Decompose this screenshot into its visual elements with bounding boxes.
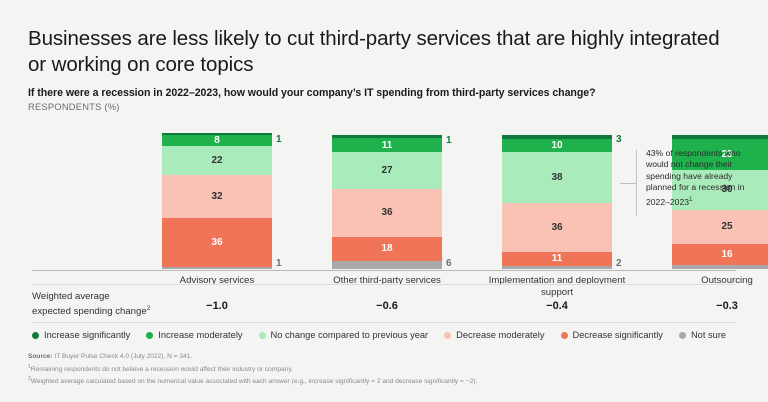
- footnotes: Source: IT Buyer Pulse Check 4.0 (July 2…: [28, 352, 738, 388]
- bar-segment[interactable]: 8: [162, 135, 272, 146]
- bar-segment[interactable]: 36: [162, 218, 272, 266]
- segment-value: 11: [552, 253, 563, 264]
- category-label: Outsourcing: [652, 275, 768, 287]
- segment-value: 38: [551, 172, 562, 183]
- legend-item[interactable]: Decrease significantly: [561, 330, 663, 340]
- bar-segment[interactable]: [332, 135, 442, 138]
- segment-value: 36: [211, 237, 222, 248]
- bar-segment[interactable]: 11: [332, 138, 442, 153]
- bar-segment[interactable]: [502, 266, 612, 269]
- legend-item[interactable]: Decrease moderately: [444, 330, 544, 340]
- category-label: Other third-party services: [312, 275, 462, 287]
- segment-value: 36: [381, 207, 392, 218]
- legend-swatch-icon: [146, 332, 153, 339]
- footnote-line: 2Weighted average calculated based on th…: [28, 375, 738, 387]
- top-segment-value: 1: [276, 134, 282, 145]
- weighted-average-value: −0.6: [312, 300, 462, 312]
- units-label: RESPONDENTS (%): [28, 101, 120, 112]
- bar-segment[interactable]: [502, 135, 612, 139]
- annotation-leader-line: [620, 183, 637, 184]
- not-sure-value: 1: [276, 258, 282, 269]
- legend-swatch-icon: [561, 332, 568, 339]
- legend-label: Decrease significantly: [573, 330, 663, 340]
- weighted-average-divider-bottom: [32, 322, 736, 323]
- category-label: Implementation and deployment support: [482, 275, 632, 299]
- bar-segment[interactable]: 11: [502, 252, 612, 267]
- axis-baseline: [32, 270, 736, 271]
- annotation-callout: 43% of respondents who would not change …: [646, 148, 758, 208]
- bar-segment[interactable]: [162, 267, 272, 270]
- segment-value: 10: [551, 140, 562, 151]
- segment-value: 18: [381, 243, 392, 254]
- top-segment-value: 1: [446, 135, 452, 146]
- weighted-average-value: −0.3: [652, 300, 768, 312]
- weighted-average-divider-top: [32, 284, 736, 285]
- top-segment-value: 3: [616, 134, 622, 145]
- bar-segment[interactable]: 18: [332, 237, 442, 261]
- bar-segment[interactable]: 36: [502, 203, 612, 251]
- segment-value: 8: [214, 135, 220, 146]
- legend-swatch-icon: [32, 332, 39, 339]
- bar-segment[interactable]: 38: [502, 152, 612, 203]
- segment-value: 36: [551, 222, 562, 233]
- legend-item[interactable]: Increase significantly: [32, 330, 130, 340]
- bar-group: 1136381032: [502, 135, 612, 269]
- category-label: Advisory services: [142, 275, 292, 287]
- segment-value: 25: [721, 221, 732, 232]
- weighted-average-value: −1.0: [142, 300, 292, 312]
- bar-segment[interactable]: [162, 133, 272, 136]
- legend-swatch-icon: [444, 332, 451, 339]
- segment-value: 27: [381, 165, 392, 176]
- legend-swatch-icon: [679, 332, 686, 339]
- page-title: Businesses are less likely to cut third-…: [28, 26, 734, 78]
- segment-value: 22: [211, 155, 222, 166]
- plot-area: 363222811183627111611363810321625302333 …: [32, 118, 736, 270]
- stacked-bar: 3632228: [162, 133, 272, 269]
- segment-value: 16: [721, 249, 732, 260]
- bar-segment[interactable]: 25: [672, 210, 768, 244]
- stacked-bar: 11363810: [502, 135, 612, 269]
- legend-label: Increase significantly: [44, 330, 130, 340]
- segment-value: 11: [382, 140, 393, 151]
- not-sure-value: 6: [446, 258, 452, 269]
- not-sure-value: 2: [616, 258, 622, 269]
- stacked-bar: 18362711: [332, 135, 442, 269]
- legend-label: Decrease moderately: [456, 330, 544, 340]
- bar-group: 1836271116: [332, 135, 442, 269]
- bar-segment[interactable]: 36: [332, 189, 442, 237]
- bar-segment[interactable]: 16: [672, 244, 768, 265]
- legend-label: No change compared to previous year: [271, 330, 429, 340]
- footnote-line: Source: IT Buyer Pulse Check 4.0 (July 2…: [28, 352, 738, 362]
- segment-value: 32: [211, 191, 222, 202]
- chart-legend: Increase significantlyIncrease moderatel…: [32, 330, 742, 340]
- bar-segment[interactable]: 32: [162, 175, 272, 218]
- chart-page: Businesses are less likely to cut third-…: [0, 0, 768, 402]
- bar-segment[interactable]: [672, 135, 768, 139]
- bar-segment[interactable]: 22: [162, 146, 272, 175]
- bar-segment[interactable]: 27: [332, 152, 442, 188]
- bar-group: 363222811: [162, 133, 272, 269]
- legend-item[interactable]: Not sure: [679, 330, 726, 340]
- legend-item[interactable]: Increase moderately: [146, 330, 242, 340]
- weighted-average-value: −0.4: [482, 300, 632, 312]
- legend-label: Increase moderately: [158, 330, 242, 340]
- footnote-line: 1Remaining respondents do not believe a …: [28, 363, 738, 375]
- legend-item[interactable]: No change compared to previous year: [259, 330, 429, 340]
- legend-label: Not sure: [691, 330, 726, 340]
- bar-segment[interactable]: [672, 265, 768, 269]
- bar-segment[interactable]: [332, 261, 442, 269]
- bar-segment[interactable]: 10: [502, 139, 612, 152]
- legend-swatch-icon: [259, 332, 266, 339]
- chart-subtitle: If there were a recession in 2022–2023, …: [28, 87, 728, 99]
